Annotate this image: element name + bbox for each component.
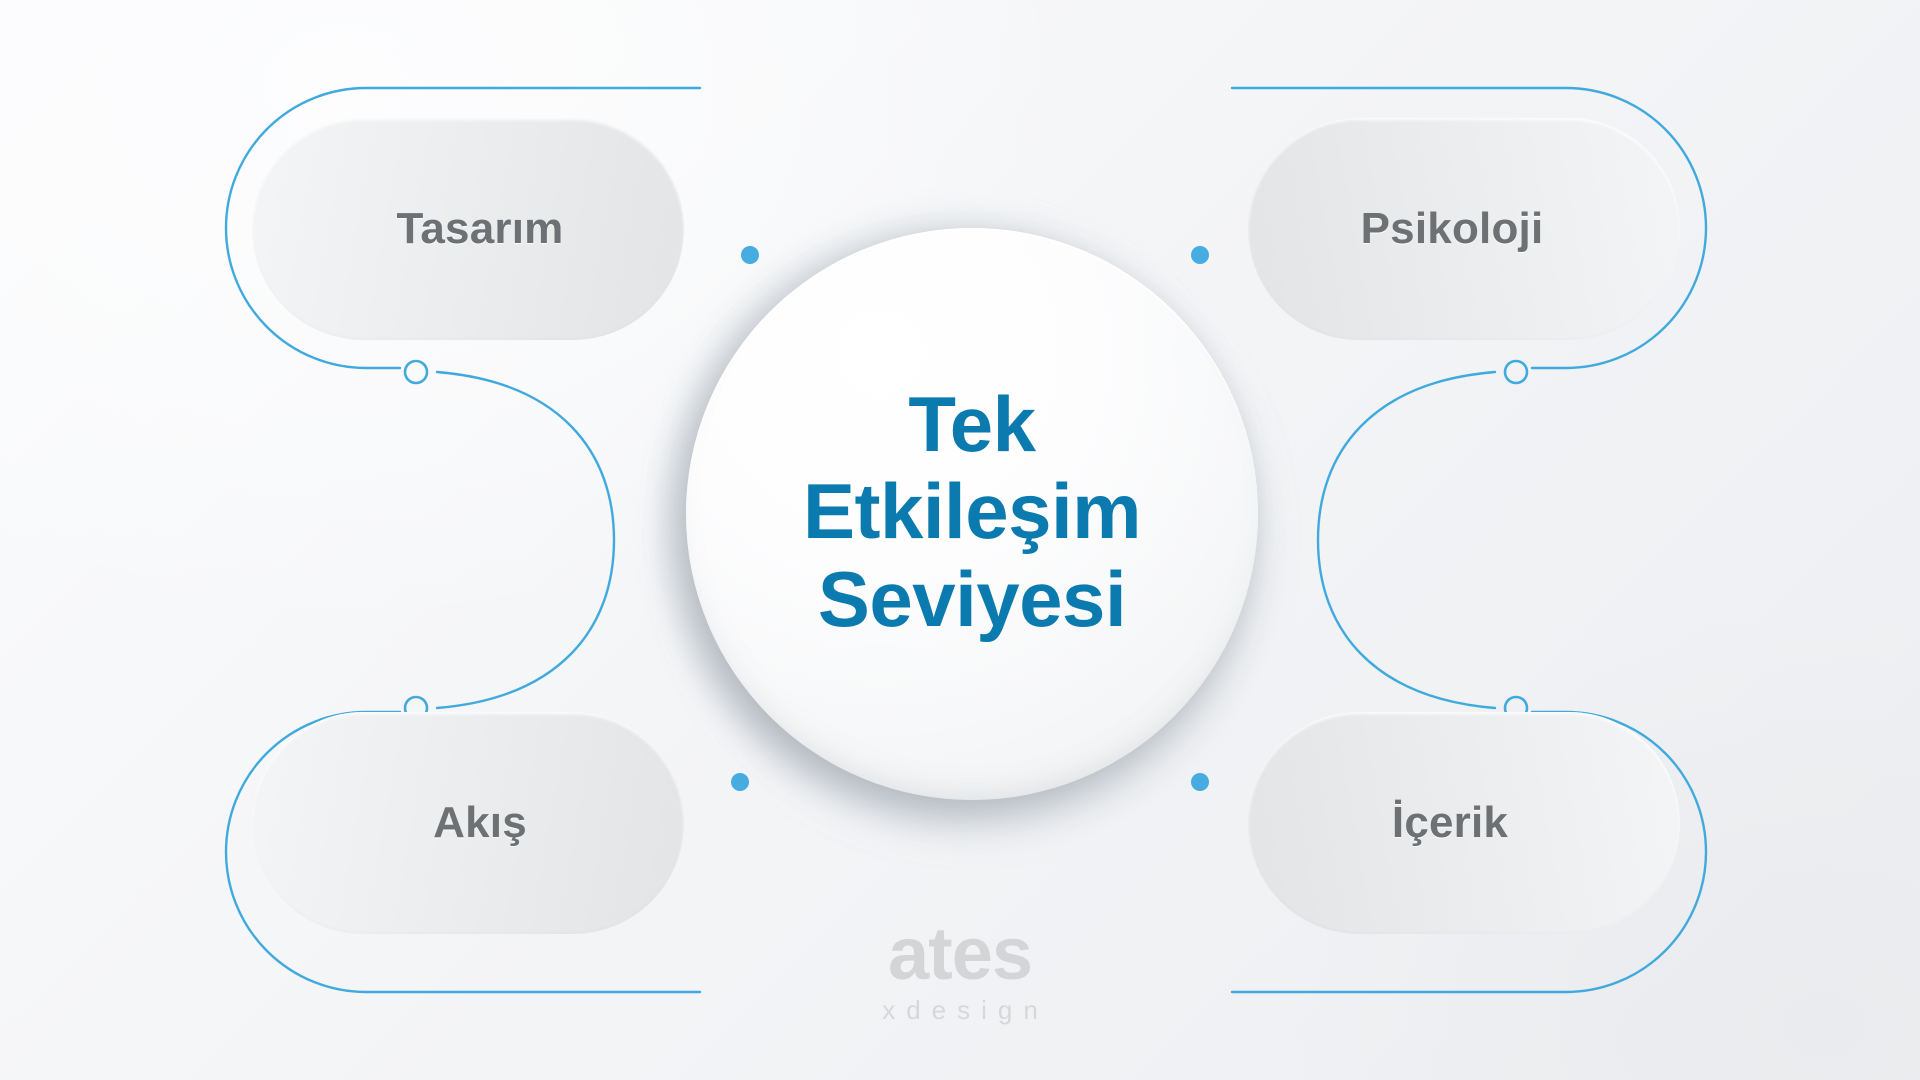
outline-path-mid-left <box>437 372 614 708</box>
node-card-psikoloji[interactable]: Psikoloji <box>1248 118 1680 340</box>
page-title: Tek Etkileşim Seviyesi <box>803 381 1141 643</box>
outline-path-mid-right <box>1318 372 1495 708</box>
dot-node-bottom-right <box>1191 773 1209 791</box>
ring-node-left <box>405 361 427 383</box>
title-line-3: Seviyesi <box>803 556 1141 643</box>
title-line-2: Etkileşim <box>803 468 1141 555</box>
dot-node-bottom-left <box>731 773 749 791</box>
node-label-akis: Akış <box>433 801 527 845</box>
node-label-icerik: İçerik <box>1392 801 1508 845</box>
title-line-1: Tek <box>803 381 1141 468</box>
ring-node-right <box>1505 361 1527 383</box>
node-label-psikoloji: Psikoloji <box>1361 207 1544 251</box>
center-circle[interactable]: Tek Etkileşim Seviyesi <box>686 228 1258 800</box>
dot-node-top-left <box>741 246 759 264</box>
node-card-akis[interactable]: Akış <box>252 712 684 934</box>
node-label-tasarim: Tasarım <box>397 207 564 251</box>
node-card-tasarim[interactable]: Tasarım <box>252 118 684 340</box>
dot-node-top-right <box>1191 246 1209 264</box>
node-card-icerik[interactable]: İçerik <box>1248 712 1680 934</box>
infographic-canvas: Tasarım Psikoloji Akış İçerik Tek Etkile… <box>0 0 1920 1080</box>
